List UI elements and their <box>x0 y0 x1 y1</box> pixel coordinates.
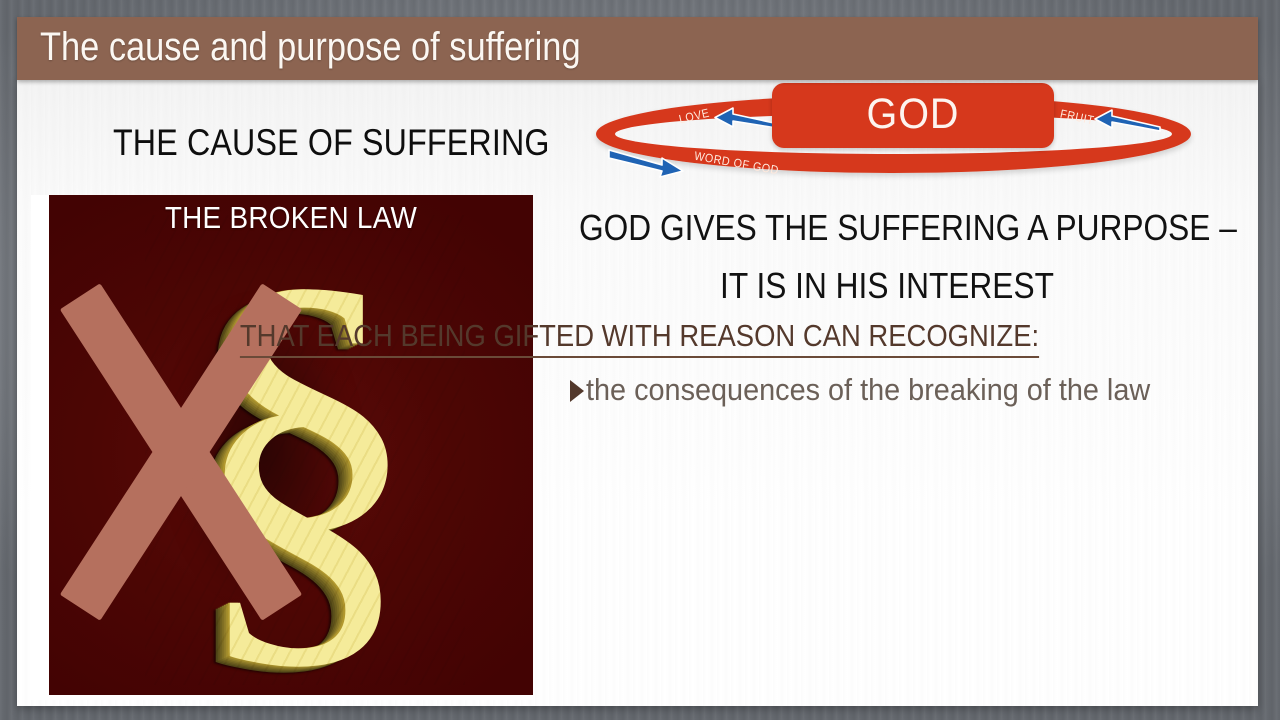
recognize-subheading: THAT EACH BEING GIFTED WITH REASON CAN R… <box>97 318 1181 354</box>
broken-law-figure: § THE BROKEN LAW <box>31 195 533 700</box>
slide-frame: The cause and purpose of suffering THE C… <box>0 0 1280 720</box>
section-symbol-graphic: § <box>49 195 533 695</box>
god-label: GOD <box>783 83 1042 148</box>
bullet-item-text: the consequences of the breaking of the … <box>586 372 1150 408</box>
god-center-box: GOD <box>772 83 1054 148</box>
slide-title-bar: The cause and purpose of suffering <box>17 17 1258 80</box>
broken-law-caption: THE BROKEN LAW <box>73 200 509 236</box>
slide-content-canvas: THE CAUSE OF SUFFERING § THE BROKEN LAW … <box>17 80 1258 706</box>
slide-title: The cause and purpose of suffering <box>40 16 581 79</box>
broken-law-image: § THE BROKEN LAW <box>49 195 533 695</box>
purpose-heading-line-2: IT IS IN HIS INTEREST <box>579 265 1195 307</box>
recognize-subheading-text: THAT EACH BEING GIFTED WITH REASON CAN R… <box>240 318 1039 358</box>
bullet-list-item: the consequences of the breaking of the … <box>570 372 1193 408</box>
god-cycle-diagram: LOVE FRUIT WORD OF GOD <box>580 85 1240 195</box>
triangle-bullet-icon <box>570 380 584 402</box>
right-arrow-icon <box>607 147 687 177</box>
cause-of-suffering-heading: THE CAUSE OF SUFFERING <box>113 122 487 164</box>
left-arrow-icon-fruit <box>1092 107 1162 131</box>
purpose-heading-line-1: GOD GIVES THE SUFFERING A PURPOSE – <box>579 207 1195 249</box>
